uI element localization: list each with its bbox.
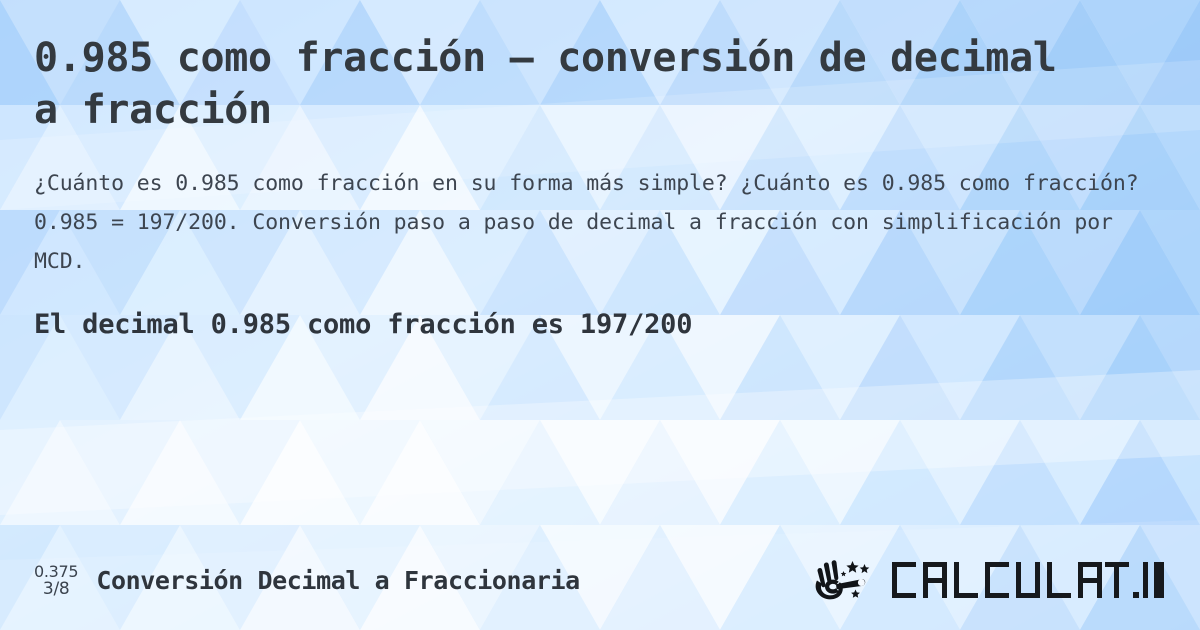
card-footer: 0.375 3/8 Conversión Decimal a Fracciona… — [0, 552, 1200, 608]
calculatio-wordmark — [892, 558, 1164, 602]
page-description: ¿Cuánto es 0.985 como fracción en su for… — [34, 164, 1164, 281]
footer-left-group: 0.375 3/8 Conversión Decimal a Fracciona… — [34, 561, 580, 599]
magic-wand-hand-icon — [814, 558, 886, 602]
badge-fraction-value: 3/8 — [34, 580, 78, 598]
fraction-example-badge: 0.375 3/8 — [34, 561, 78, 599]
footer-section-title: Conversión Decimal a Fraccionaria — [96, 566, 580, 595]
calculatio-brand-logo[interactable] — [814, 558, 1166, 602]
share-card: 0.985 como fracción – conversión de deci… — [0, 0, 1200, 630]
badge-decimal-value: 0.375 — [34, 563, 78, 580]
answer-statement: El decimal 0.985 como fracción es 197/20… — [34, 307, 1166, 343]
card-content: 0.985 como fracción – conversión de deci… — [0, 0, 1200, 630]
page-title: 0.985 como fracción – conversión de deci… — [34, 32, 1104, 136]
